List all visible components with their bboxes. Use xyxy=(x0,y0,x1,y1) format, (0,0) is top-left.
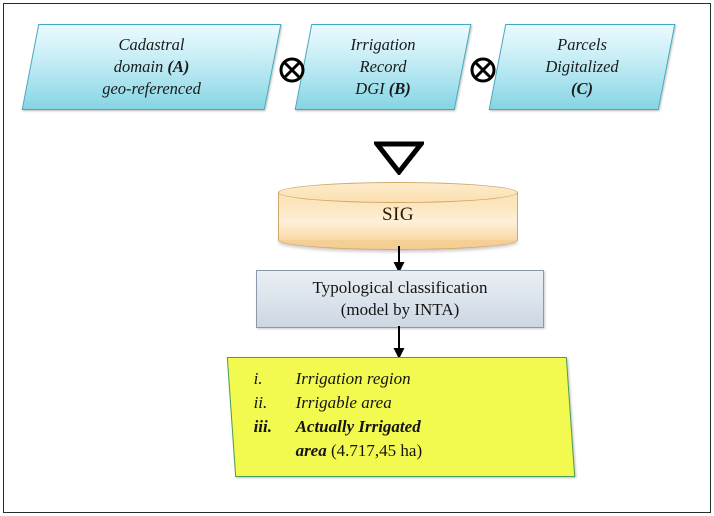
source-c-line1: Parcels xyxy=(504,34,660,56)
source-b-line3-text: DGI xyxy=(355,79,384,98)
database-node-sig[interactable]: SIG xyxy=(278,182,518,248)
source-a-tag: (A) xyxy=(167,57,189,76)
result-item-2-number: ii. xyxy=(254,391,296,415)
result-item-3: iii. Actually Irrigated xyxy=(254,415,570,439)
tensor-product-icon xyxy=(470,57,496,83)
source-c-line3: (C) xyxy=(504,78,660,100)
result-item-3-continuation-bold: area xyxy=(296,441,327,460)
process-line2: (model by INTA) xyxy=(313,299,488,321)
result-item-3-value: (4.717,45 ha) xyxy=(327,441,422,460)
arrow-process-to-results xyxy=(390,326,408,360)
source-node-parcels-digitalized[interactable]: Parcels Digitalized (C) xyxy=(489,24,676,110)
result-item-1-label: Irrigation region xyxy=(296,367,411,391)
result-item-2-label: Irrigable area xyxy=(296,391,392,415)
result-item-3-number: iii. xyxy=(254,415,296,439)
source-b-line3: DGI (B) xyxy=(310,78,456,100)
database-label: SIG xyxy=(278,204,518,226)
source-b-tag: (B) xyxy=(389,79,411,98)
cylinder-top-ellipse xyxy=(278,182,518,203)
source-c-line2: Digitalized xyxy=(504,56,660,78)
tensor-product-icon xyxy=(279,57,305,83)
result-item-3-label: Actually Irrigated xyxy=(296,415,421,439)
result-item-3-continuation: area (4.717,45 ha) xyxy=(254,439,570,463)
triangle-down-icon xyxy=(374,141,424,175)
source-a-line2: domain (A) xyxy=(37,56,266,78)
result-item-1-number: i. xyxy=(254,367,296,391)
source-c-tag: (C) xyxy=(571,79,593,98)
source-node-cadastral-domain[interactable]: Cadastral domain (A) geo-referenced xyxy=(22,24,282,110)
diagram-canvas: Cadastral domain (A) geo-referenced Irri… xyxy=(0,0,714,516)
source-a-line2-text: domain xyxy=(114,57,164,76)
source-b-line2: Record xyxy=(310,56,456,78)
result-item-1: i. Irrigation region xyxy=(254,367,570,391)
source-node-irrigation-record[interactable]: Irrigation Record DGI (B) xyxy=(295,24,472,110)
source-a-line3: geo-referenced xyxy=(37,78,266,100)
source-b-line1: Irrigation xyxy=(310,34,456,56)
source-a-line1: Cadastral xyxy=(37,34,266,56)
process-node-typological-classification[interactable]: Typological classification (model by INT… xyxy=(256,270,544,328)
results-node-outputs[interactable]: i. Irrigation region ii. Irrigable area … xyxy=(227,357,575,477)
result-item-2: ii. Irrigable area xyxy=(254,391,570,415)
process-line1: Typological classification xyxy=(313,277,488,299)
